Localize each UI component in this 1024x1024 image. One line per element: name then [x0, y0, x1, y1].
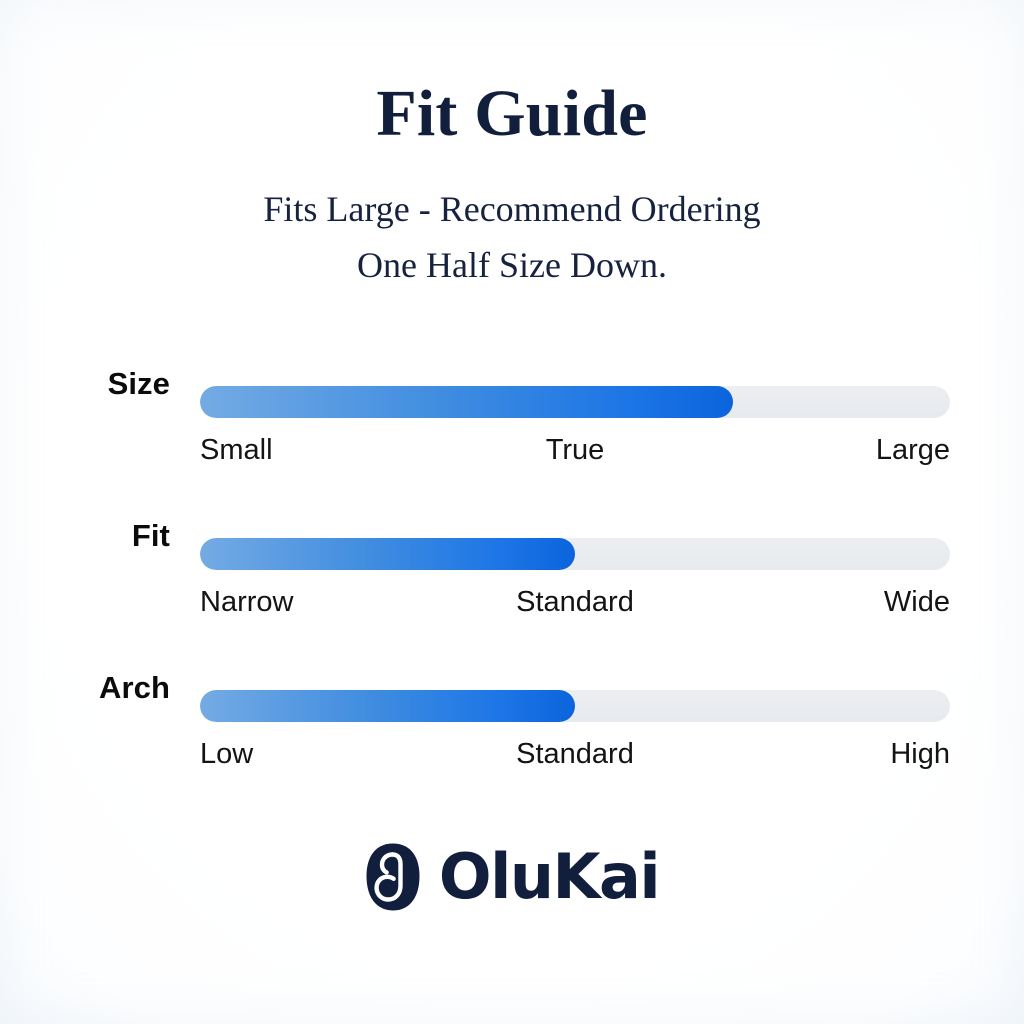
scale-end-fit: Wide: [884, 586, 950, 619]
meter-fill-fit: [200, 538, 575, 570]
scale-start-fit: Narrow: [200, 586, 293, 619]
scale-mid-arch: Standard: [516, 738, 634, 771]
fit-guide-card: Fit Guide Fits Large - Recommend Orderin…: [0, 0, 1024, 1024]
meter-list: Size Small True Large Fit Narrow Standar…: [0, 362, 1024, 818]
scale-mid-fit: Standard: [516, 586, 634, 619]
scale-mid-size: True: [546, 434, 605, 467]
meter-scale-fit: Narrow Standard Wide: [200, 586, 950, 619]
scale-end-size: Large: [876, 434, 950, 467]
meter-scale-arch: Low Standard High: [200, 738, 950, 771]
meter-row-fit: Fit Narrow Standard Wide: [0, 514, 1024, 666]
meter-label-fit: Fit: [0, 518, 170, 554]
scale-end-arch: High: [890, 738, 950, 771]
meter-fill-arch: [200, 690, 575, 722]
brand-lockup: OluKai: [0, 842, 1024, 912]
scale-start-arch: Low: [200, 738, 253, 771]
scale-start-size: Small: [200, 434, 273, 467]
page-title: Fit Guide: [0, 78, 1024, 149]
page-subtitle: Fits Large - Recommend Ordering One Half…: [162, 181, 862, 293]
meter-row-size: Size Small True Large: [0, 362, 1024, 514]
meter-scale-size: Small True Large: [200, 434, 950, 467]
subtitle-line-1: Fits Large - Recommend Ordering: [162, 181, 862, 237]
meter-track-fit[interactable]: [200, 538, 950, 570]
meter-label-size: Size: [0, 366, 170, 402]
meter-track-size[interactable]: [200, 386, 950, 418]
meter-track-arch[interactable]: [200, 690, 950, 722]
fishhook-icon: [365, 842, 421, 912]
meter-row-arch: Arch Low Standard High: [0, 666, 1024, 818]
brand-name: OluKai: [439, 846, 659, 908]
subtitle-line-2: One Half Size Down.: [162, 237, 862, 293]
header: Fit Guide Fits Large - Recommend Orderin…: [0, 0, 1024, 294]
meter-fill-size: [200, 386, 733, 418]
meter-label-arch: Arch: [0, 670, 170, 706]
